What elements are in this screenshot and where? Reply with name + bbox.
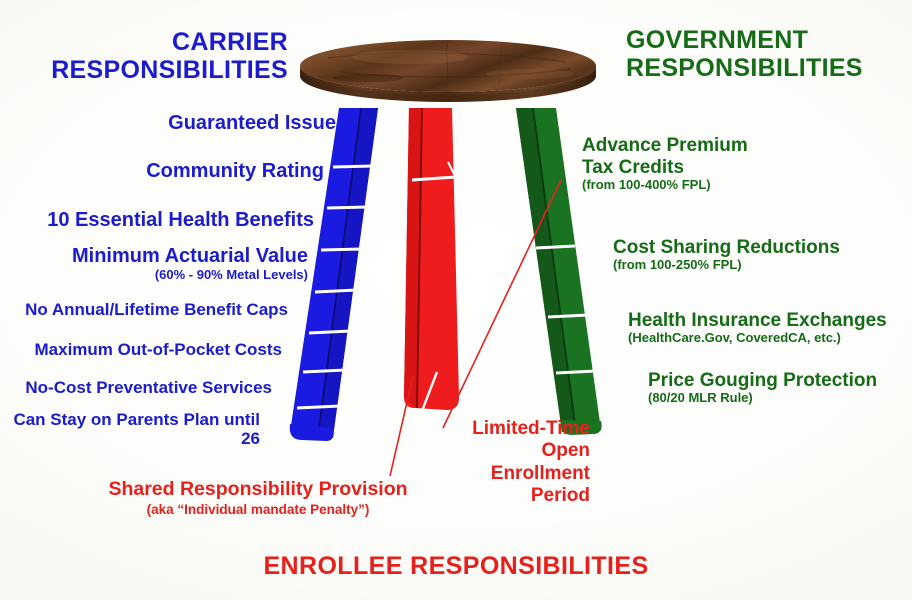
carrier-item-essential-health-benefits: 10 Essential Health Benefits — [16, 209, 314, 232]
infographic-canvas: CARRIER RESPONSIBILITIES GOVERNMENT RESP… — [0, 0, 912, 600]
enrollee-item-sublabel: (aka “Individual mandate Penalty”) — [78, 502, 438, 518]
carrier-responsibilities-heading: CARRIER RESPONSIBILITIES — [20, 28, 288, 84]
carrier-item-stay-on-parents-plan: Can Stay on Parents Plan until 26 — [4, 410, 260, 448]
government-item-label: Advance Premium Tax Credits — [582, 135, 748, 177]
enrollee-item-shared-responsibility-provision: Shared Responsibility Provision (aka “In… — [78, 478, 438, 518]
government-item-advance-premium-tax-credits: Advance Premium Tax Credits (from 100-40… — [582, 114, 882, 215]
government-item-sublabel: (HealthCare.Gov, CoveredCA, etc.) — [628, 331, 912, 346]
government-item-sublabel: (from 100-400% FPL) — [582, 178, 882, 193]
carrier-item-sublabel: (60% - 90% Metal Levels) — [20, 268, 308, 283]
carrier-item-label: No Annual/Lifetime Benefit Caps — [25, 300, 288, 319]
carrier-item-label: Can Stay on Parents Plan until 26 — [13, 410, 260, 448]
carrier-item-community-rating: Community Rating — [40, 160, 324, 183]
government-item-sublabel: (80/20 MLR Rule) — [648, 391, 912, 406]
carrier-item-max-out-of-pocket: Maximum Out-of-Pocket Costs — [18, 340, 282, 359]
government-item-cost-sharing-reductions: Cost Sharing Reductions (from 100-250% F… — [613, 237, 909, 273]
carrier-item-minimum-actuarial-value: Minimum Actuarial Value (60% - 90% Metal… — [20, 245, 308, 282]
carrier-item-no-cost-preventative: No-Cost Preventative Services — [12, 378, 272, 397]
government-item-sublabel: (from 100-250% FPL) — [613, 258, 909, 273]
carrier-item-label: No-Cost Preventative Services — [25, 378, 272, 397]
carrier-item-label: Guaranteed Issue — [168, 112, 336, 134]
enrollee-item-label: Shared Responsibility Provision — [108, 478, 407, 500]
government-item-health-insurance-exchanges: Health Insurance Exchanges (HealthCare.G… — [628, 310, 912, 346]
government-item-label: Price Gouging Protection — [648, 370, 877, 391]
carrier-item-no-benefit-caps: No Annual/Lifetime Benefit Caps — [14, 300, 288, 319]
carrier-item-label: Minimum Actuarial Value — [72, 245, 308, 267]
carrier-item-label: Community Rating — [146, 160, 324, 182]
government-responsibilities-heading: GOVERNMENT RESPONSIBILITIES — [626, 26, 902, 82]
carrier-item-label: Maximum Out-of-Pocket Costs — [35, 340, 282, 359]
government-item-price-gouging-protection: Price Gouging Protection (80/20 MLR Rule… — [648, 370, 912, 406]
enrollee-responsibilities-heading: ENROLLEE RESPONSIBILITIES — [0, 552, 912, 580]
government-item-label: Health Insurance Exchanges — [628, 310, 887, 331]
government-item-label: Cost Sharing Reductions — [613, 237, 840, 258]
carrier-item-label: 10 Essential Health Benefits — [47, 209, 314, 231]
enrollee-item-open-enrollment-period: Limited-Time Open Enrollment Period — [440, 418, 590, 508]
carrier-item-guaranteed-issue: Guaranteed Issue — [58, 112, 336, 135]
